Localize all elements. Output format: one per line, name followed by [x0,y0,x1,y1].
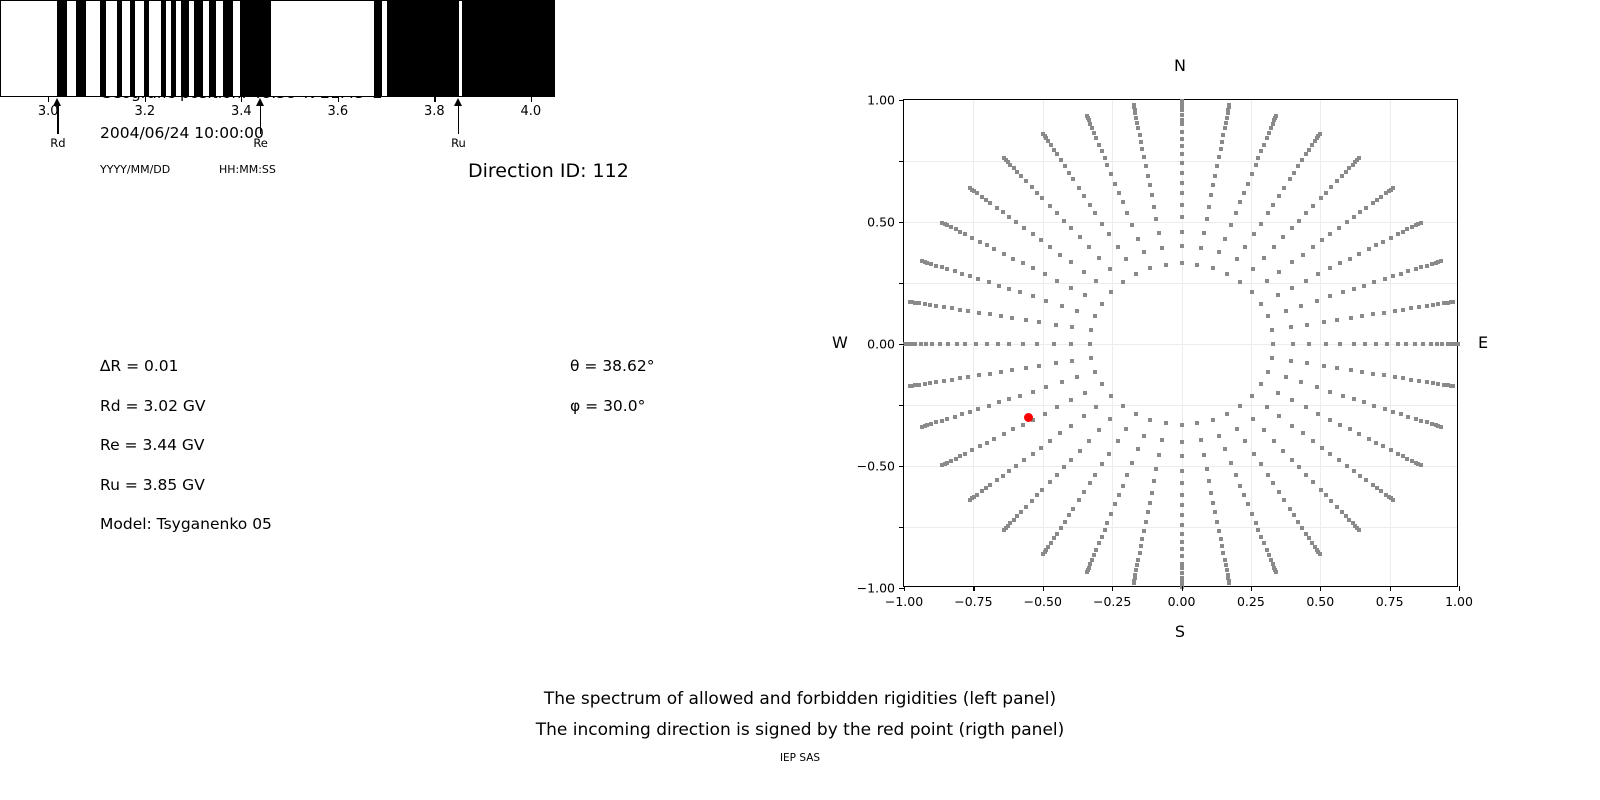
direction-point [1401,308,1405,312]
direction-point [968,498,972,502]
direction-point [1144,164,1148,168]
direction-point [1007,342,1011,346]
direction-point [1035,493,1039,497]
direction-point [1288,177,1292,181]
direction-point [1097,428,1101,432]
y-axis-tick-label: −0.50 [857,459,895,474]
axis-tick [338,97,339,102]
direction-point [1274,570,1278,574]
direction-point [1069,424,1073,428]
direction-point [1289,325,1293,329]
direction-point [1425,380,1429,384]
direction-point [1180,181,1184,185]
direction-point [988,312,992,316]
direction-point [1328,232,1332,236]
direction-point [1078,235,1082,239]
direction-point [1238,484,1242,488]
direction-point [1136,447,1140,451]
direction-point [1082,414,1086,418]
direction-point [1217,155,1221,159]
direction-point [984,198,988,202]
direction-point [1055,152,1059,156]
direction-point [1304,152,1308,156]
direction-point [1021,342,1025,346]
direction-point [1002,252,1006,256]
direction-point [1121,280,1125,284]
direction-point [1227,581,1231,585]
parameter-line: Rd = 3.02 GV [100,397,206,415]
direction-point [1107,232,1111,236]
direction-point [1374,441,1378,445]
direction-point [1290,286,1294,290]
direction-point [1160,246,1164,250]
direction-point [1180,469,1184,473]
forbidden-band [161,1,165,96]
direction-point [955,342,959,346]
direction-point [1109,172,1113,176]
direction-point [1391,186,1395,190]
direction-point [1272,439,1276,443]
direction-point [1243,439,1247,443]
direction-point [1414,417,1418,421]
forbidden-band [374,1,383,96]
direction-point [1290,226,1294,230]
direction-point [1132,581,1136,585]
direction-point [1015,514,1019,518]
direction-point [1015,170,1019,174]
direction-point [919,342,923,346]
direction-point [1180,161,1184,165]
direction-point [1383,277,1387,281]
direction-point [1281,449,1285,453]
direction-point [1030,185,1034,189]
direction-point [1060,304,1064,308]
direction-point [1221,551,1225,555]
direction-point [1088,122,1092,126]
direction-point [992,247,996,251]
direction-point [970,448,974,452]
direction-point [1335,179,1339,183]
direction-point [1070,325,1074,329]
direction-point [1328,294,1332,298]
direction-point [1211,418,1215,422]
direction-point [1157,453,1161,457]
direction-point [1140,147,1144,151]
direction-point [1401,230,1405,234]
direction-point [968,410,972,414]
direction-point [1393,375,1397,379]
direction-point [1022,458,1026,462]
direction-point [1270,328,1274,332]
direction-point [1087,439,1091,443]
direction-point [1180,122,1184,126]
direction-point [1396,232,1400,236]
direction-point [999,314,1003,318]
direction-point [1180,571,1184,575]
direction-point [1069,286,1073,290]
direction-point [1421,342,1425,346]
direction-point [1329,499,1333,503]
direction-point [1307,148,1311,152]
axis-tick-label: 3.6 [327,104,348,119]
direction-point [1396,342,1400,346]
direction-point [1113,182,1117,186]
direction-point [1352,469,1356,473]
x-axis-tick [1320,586,1321,591]
direction-point [1335,366,1339,370]
direction-point [1088,481,1092,485]
direction-point [1315,299,1319,303]
x-axis-tick-label: 0.75 [1376,594,1404,609]
direction-point [1075,375,1079,379]
direction-point [1180,547,1184,551]
direction-point [1266,314,1270,318]
direction-point [1310,143,1314,147]
direction-point [997,400,1001,404]
direction-point [1431,381,1435,385]
direction-point [1180,454,1184,458]
direction-point [1211,183,1215,187]
date-format-hint: YYYY/MM/DD [100,163,170,176]
x-axis-tick [1459,586,1460,591]
direction-point [1180,493,1184,497]
direction-point [1381,444,1385,448]
parameter-line: Ru = 3.85 GV [100,476,205,494]
direction-point [1018,394,1022,398]
direction-point [1223,237,1227,241]
direction-point [1304,473,1308,477]
direction-point [1425,420,1429,424]
direction-point [1265,405,1269,409]
direction-point [1021,423,1025,427]
direction-point [1180,503,1184,507]
direction-point [1277,194,1281,198]
direction-point [1226,111,1230,115]
direction-point [1134,272,1138,276]
direction-point [1269,558,1273,562]
direction-point [1242,191,1246,195]
direction-point [1113,502,1117,506]
direction-point [1401,376,1405,380]
direction-point [1077,498,1081,502]
direction-point [1274,114,1278,118]
forbidden-band [240,1,271,96]
y-axis-tick-label: 0.50 [867,215,895,230]
direction-point [1320,446,1324,450]
direction-point [1389,448,1393,452]
direction-point [1039,238,1043,242]
direction-point [1180,481,1184,485]
direction-point [1180,554,1184,558]
direction-point [1335,505,1339,509]
direction-point [968,186,972,190]
direction-point [987,404,991,408]
direction-point [996,342,1000,346]
direction-point [1246,182,1250,186]
y-axis-tick-label: 1.00 [867,93,895,108]
direction-point [1207,205,1211,209]
direction-point [1374,243,1378,247]
direction-point [1048,245,1052,249]
direction-point [1094,405,1098,409]
direction-point [1180,423,1184,427]
direction-point [1272,245,1276,249]
direction-point [946,342,950,346]
direction-point [1417,305,1421,309]
direction-point [1322,364,1326,368]
direction-point [1251,417,1255,421]
x-axis-tick-label: 0.50 [1306,594,1334,609]
direction-point [1250,172,1254,176]
direction-point [1250,512,1254,516]
direction-point [1031,232,1035,236]
direction-point [1134,116,1138,120]
direction-point [1242,493,1246,497]
direction-point [1439,259,1443,263]
direction-point [1238,280,1242,284]
x-axis-tick-label: −0.50 [1024,594,1062,609]
direction-point [940,265,944,269]
direction-point [1338,423,1342,427]
direction-point [1238,200,1242,204]
direction-point [1136,237,1140,241]
compass-label-south: S [1175,622,1185,641]
direction-point [938,342,942,346]
direction-point [1265,279,1269,283]
direction-point [980,195,984,199]
direction-point [1372,404,1376,408]
direction-point [1352,397,1356,401]
direction-point [1133,111,1137,115]
forbidden-band [181,1,189,96]
gridline-vertical [1043,100,1044,586]
x-axis-tick-label: 0.25 [1237,594,1265,609]
direction-point [1199,438,1203,442]
x-axis-tick-label: −1.00 [885,594,923,609]
direction-point [1299,304,1303,308]
direction-point [1010,316,1014,320]
direction-point [1367,437,1371,441]
forbidden-band [171,1,176,96]
direction-point [1059,158,1063,162]
direction-point [1291,342,1295,346]
direction-point [1284,309,1288,313]
y-axis-tick [899,100,904,101]
direction-point [1259,535,1263,539]
direction-point [1071,177,1075,181]
direction-point [1002,528,1006,532]
rigidity-band-bar [0,0,555,97]
y-axis-tick [899,161,904,162]
direction-point [1180,130,1184,134]
direction-point [1324,342,1328,346]
direction-point [1195,421,1199,425]
direction-point [1305,361,1309,365]
direction-point [1011,427,1015,431]
direction-point [1246,502,1250,506]
direction-point [1223,126,1227,130]
direction-point [1282,186,1286,190]
direction-point [913,342,917,346]
direction-point [1007,397,1011,401]
direction-point [1059,526,1063,530]
direction-point [1224,121,1228,125]
direction-point [1439,425,1443,429]
direction-point [1324,191,1328,195]
direction-point [1082,270,1086,274]
direction-point [985,441,989,445]
direction-point [1089,356,1093,360]
direction-point [1071,507,1075,511]
direction-point [1117,191,1121,195]
direction-point [1311,439,1315,443]
direction-point [1069,226,1073,230]
direction-point [1180,244,1184,248]
direction-point [1043,272,1047,276]
direction-point [1328,390,1332,394]
direction-point [1142,250,1146,254]
direction-point [1271,203,1275,207]
direction-point [940,419,944,423]
direction-point [1391,274,1395,278]
direction-point [1142,529,1146,533]
direction-point [1180,171,1184,175]
footer-credit: IEP SAS [0,752,1600,764]
direction-point [1052,148,1056,152]
direction-point [1109,394,1113,398]
direction-point [1205,467,1209,471]
y-axis-tick [899,222,904,223]
direction-point [1154,217,1158,221]
direction-point [1124,257,1128,261]
direction-point [1429,342,1433,346]
direction-point [928,381,932,385]
direction-point [1311,480,1315,484]
direction-point [960,412,964,416]
direction-point [1077,186,1081,190]
direction-id-label: Direction ID: 112 [468,160,629,182]
direction-point [1180,440,1184,444]
direction-point [920,259,924,263]
direction-point [1157,231,1161,235]
direction-point [1315,385,1319,389]
direction-point [1362,400,1366,404]
direction-point [1108,417,1112,421]
direction-point [1396,452,1400,456]
arrow-shaft [57,104,58,134]
direction-point [1012,166,1016,170]
direction-point [1223,447,1227,451]
direction-point [1371,372,1375,376]
direction-point [1031,294,1035,298]
direction-point [992,437,996,441]
forbidden-band [194,1,203,96]
direction-point [1069,260,1073,264]
direction-point [1075,309,1079,313]
direction-point [1209,193,1213,197]
direction-point [970,236,974,240]
direction-point [1348,427,1352,431]
direction-point [1219,147,1223,151]
direction-point [1357,528,1361,532]
direction-point [1352,215,1356,219]
x-axis-tick [973,586,974,591]
direction-point [1180,540,1184,544]
direction-point [1195,263,1199,267]
direction-point [1405,457,1409,461]
direction-point [1097,143,1101,147]
direction-point [1358,210,1362,214]
direction-point [1035,342,1039,346]
direction-point [1383,407,1387,411]
direction-point [1419,419,1423,423]
direction-point [1341,394,1345,398]
direction-point [1211,266,1215,270]
direction-point [949,459,953,463]
direction-point [1024,318,1028,322]
direction-point [1150,193,1154,197]
direction-point [1319,196,1323,200]
compass-label-west: W [832,333,848,352]
direction-point [1039,446,1043,450]
direction-point [1121,484,1125,488]
direction-point [1105,521,1109,525]
direction-point [1180,532,1184,536]
direction-point [1180,230,1184,234]
direction-point [1220,544,1224,548]
direction-point [1349,368,1353,372]
y-axis-tick [899,527,904,528]
direction-point [1316,412,1320,416]
direction-point [1146,510,1150,514]
direction-point [1103,156,1107,160]
direction-point [1328,266,1332,270]
marker-label: Re [253,136,268,150]
direction-point [1116,439,1120,443]
x-axis-tick [904,586,905,591]
x-axis-tick-label: −0.25 [1093,594,1131,609]
x-axis-tick-label: 1.00 [1445,594,1473,609]
direction-point [1425,264,1429,268]
direction-point [1451,384,1455,388]
direction-point [1152,479,1156,483]
direction-point [1180,152,1184,156]
direction-point [1318,132,1322,136]
direction-point [1007,215,1011,219]
direction-point [1062,219,1066,223]
parameter-line: φ = 30.0° [570,397,645,415]
forbidden-band [209,1,216,96]
direction-point [1063,164,1067,168]
direction-point [1425,304,1429,308]
time-format-hint: HH:MM:SS [219,163,276,176]
direction-point [1319,488,1323,492]
direction-point [1180,113,1184,117]
direction-point [1100,222,1104,226]
direction-point [1125,211,1129,215]
direction-point [1290,424,1294,428]
direction-point [1082,194,1086,198]
direction-point [928,303,932,307]
direction-point [1337,458,1341,462]
direction-point [1269,126,1273,130]
direction-point [1002,432,1006,436]
direction-point [1382,311,1386,315]
direction-point [985,243,989,247]
direction-point [1209,491,1213,495]
direction-point [945,417,949,421]
direction-point [1100,462,1104,466]
